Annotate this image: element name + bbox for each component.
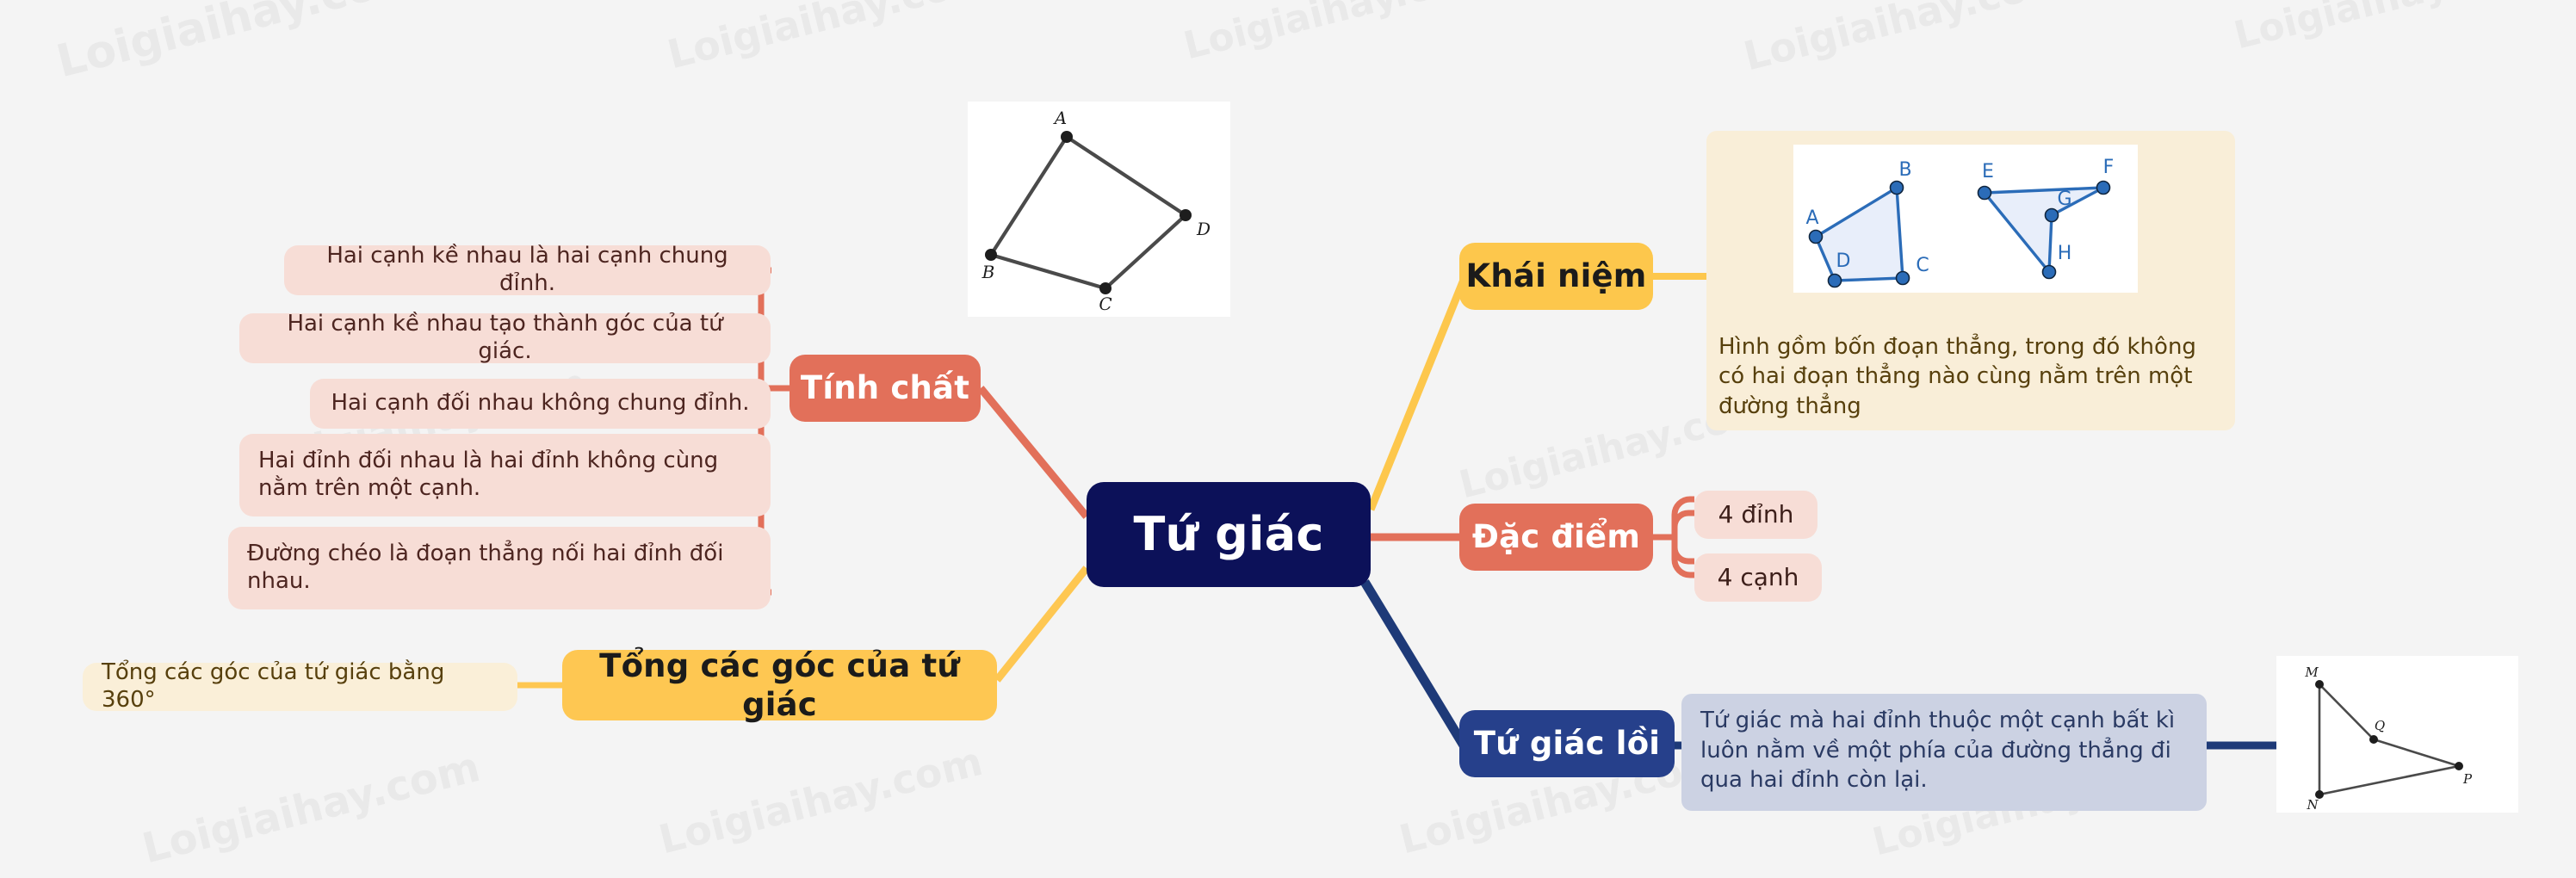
leaf-tinh-chat-4[interactable]: Hai đỉnh đối nhau là hai đỉnh không cùng… [239, 434, 771, 516]
mindmap-canvas: Loigiaihay.com Loigiaihay.com Loigiaihay… [0, 0, 2576, 878]
center-node[interactable]: Tứ giác [1087, 482, 1371, 587]
leaf-tinh-chat-2[interactable]: Hai cạnh kề nhau tạo thành góc của tứ gi… [239, 313, 771, 363]
leaf-tinh-chat-1[interactable]: Hai cạnh kề nhau là hai cạnh chung đỉnh. [284, 245, 771, 295]
svg-text:Q: Q [2375, 718, 2385, 733]
svg-text:N: N [2306, 797, 2319, 813]
leaf-tong-cac-goc-1[interactable]: Tổng các góc của tứ giác bằng 360° [83, 663, 517, 711]
branch-node-tu-giac-loi[interactable]: Tứ giác lồi [1459, 710, 1675, 777]
branch-node-dac-diem[interactable]: Đặc điểm [1459, 504, 1653, 571]
svg-text:H: H [2058, 243, 2072, 264]
svg-text:C: C [1916, 255, 1929, 276]
leaf-dac-diem-4-dinh[interactable]: 4 đỉnh [1694, 491, 1817, 539]
svg-text:A: A [1805, 207, 1818, 229]
leaf-tinh-chat-5[interactable]: Đường chéo là đoạn thẳng nối hai đỉnh đố… [228, 527, 771, 609]
svg-text:D: D [1196, 219, 1211, 239]
khai-niem-description: Hình gồm bốn đoạn thẳng, trong đó không … [1718, 332, 2226, 421]
branch-node-tinh-chat[interactable]: Tính chất [790, 355, 981, 422]
svg-text:P: P [2462, 771, 2473, 787]
svg-text:D: D [1836, 250, 1851, 272]
khai-niem-figure: A B C D E F G H [1793, 145, 2138, 293]
tu-giac-loi-description: Tứ giác mà hai đỉnh thuộc một cạnh bất k… [1681, 694, 2207, 811]
svg-text:B: B [1898, 159, 1911, 181]
svg-text:F: F [2103, 157, 2115, 178]
leaf-tinh-chat-3[interactable]: Hai cạnh đối nhau không chung đỉnh. [310, 379, 771, 429]
svg-text:B: B [981, 262, 995, 282]
quadrilateral-abcd-figure: A B C D [968, 102, 1230, 317]
svg-text:M: M [2304, 665, 2319, 680]
svg-text:A: A [1053, 108, 1067, 128]
branch-node-tong-cac-goc[interactable]: Tổng các góc của tứ giác [562, 650, 997, 720]
leaf-dac-diem-4-canh[interactable]: 4 cạnh [1694, 553, 1822, 602]
tu-giac-loi-figure: M N P Q [2276, 656, 2518, 813]
svg-text:G: G [2057, 189, 2071, 210]
branch-node-khai-niem[interactable]: Khái niệm [1459, 243, 1653, 310]
svg-text:E: E [1982, 161, 1994, 182]
svg-text:C: C [1099, 294, 1112, 314]
